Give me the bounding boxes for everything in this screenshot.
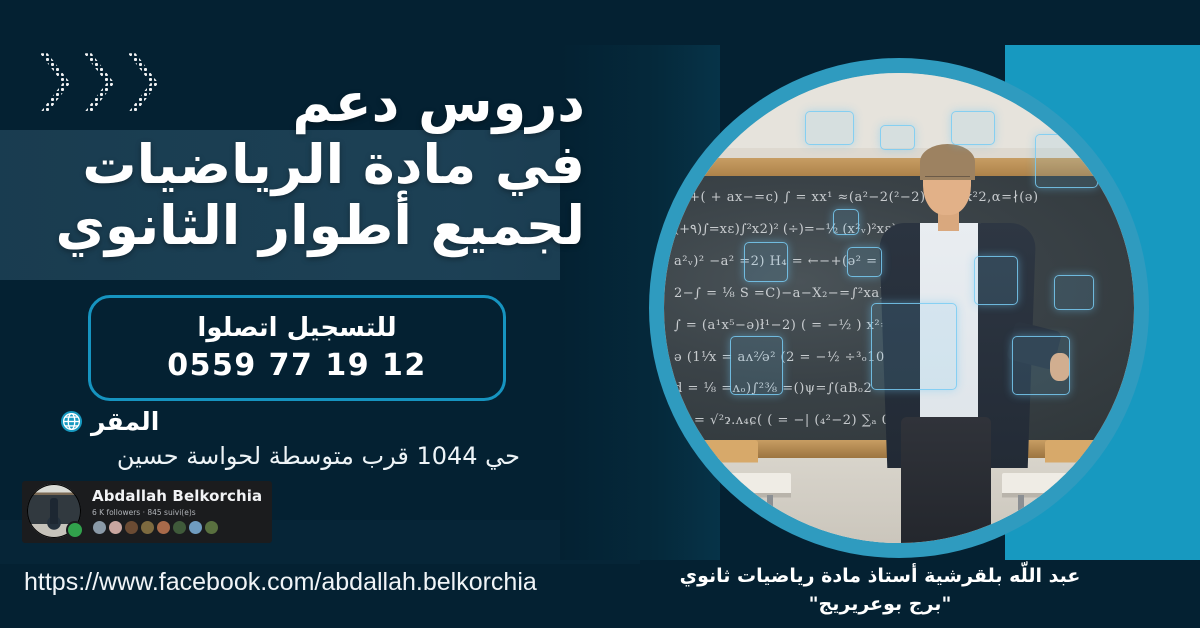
- friend-avatar-row: [92, 520, 272, 535]
- friend-avatar: [188, 520, 203, 535]
- hud-panel: [805, 111, 854, 146]
- facebook-page-card[interactable]: Abdallah Belkorchia 6 K followers · 845 …: [22, 481, 272, 543]
- hud-panel: [744, 242, 788, 282]
- avatar-wrapper: [27, 484, 83, 540]
- hud-panel: [1035, 134, 1098, 188]
- facebook-card-meta: Abdallah Belkorchia 6 K followers · 845 …: [92, 489, 272, 535]
- cta-label: للتسجيل اتصلوا: [197, 313, 396, 344]
- hair: [920, 144, 974, 180]
- photo-ring: C +( + ax−=c) ∫ = xx¹ ≈(a²−2(²−2) a² = x…: [649, 58, 1149, 558]
- poster-root: دروس دعم في مادة الرياضيات لجميع أطوار ا…: [0, 0, 1200, 628]
- trousers: [901, 417, 990, 543]
- friend-avatar: [140, 520, 155, 535]
- friend-avatar: [92, 520, 107, 535]
- address-line: حي 1044 قرب متوسطة لحواسة حسين: [60, 442, 520, 471]
- online-status-dot: [66, 521, 84, 539]
- facebook-page-name: Abdallah Belkorchia: [92, 489, 272, 505]
- caption-line-1: عبد اللّه بلقرشية أستاذ مادة رياضيات ثان…: [560, 563, 1200, 591]
- hud-panel: [833, 209, 859, 235]
- hud-panel: [730, 336, 784, 394]
- facebook-url[interactable]: https://www.facebook.com/abdallah.belkor…: [24, 568, 537, 597]
- friend-avatar: [156, 520, 171, 535]
- hud-panel: [871, 303, 958, 390]
- teacher-photo: C +( + ax−=c) ∫ = xx¹ ≈(a²−2(²−2) a² = x…: [664, 73, 1134, 543]
- globe-icon: [60, 410, 83, 433]
- hud-panel: [880, 125, 915, 151]
- hud-panel: [951, 111, 995, 146]
- friend-avatar: [124, 520, 139, 535]
- address-title: المقر: [91, 408, 159, 436]
- friend-avatar: [108, 520, 123, 535]
- photo-caption: عبد اللّه بلقرشية أستاذ مادة رياضيات ثان…: [560, 563, 1200, 618]
- friend-avatar: [204, 520, 219, 535]
- call-to-action-button[interactable]: للتسجيل اتصلوا 0559 77 19 12: [88, 295, 506, 401]
- hud-panel: [847, 247, 882, 277]
- headline-line-1: دروس دعم: [0, 72, 585, 134]
- hud-panel: [1054, 275, 1094, 310]
- address-heading: المقر: [60, 408, 520, 436]
- cta-phone-number[interactable]: 0559 77 19 12: [167, 348, 427, 383]
- eyeglasses: [925, 176, 970, 189]
- headline-line-2: في مادة الرياضيات: [0, 134, 585, 196]
- friend-avatar: [172, 520, 187, 535]
- caption-line-2: "برج بوعريريج": [560, 591, 1200, 619]
- desk-left: [678, 473, 791, 529]
- facebook-page-stats: 6 K followers · 845 suivi(e)s: [92, 508, 272, 517]
- address-block: المقر حي 1044 قرب متوسطة لحواسة حسين: [60, 408, 520, 470]
- hud-panel: [1012, 336, 1070, 394]
- hud-panel: [974, 256, 1018, 305]
- headline-line-3: لجميع أطوار الثانوي: [0, 195, 585, 257]
- headline: دروس دعم في مادة الرياضيات لجميع أطوار ا…: [0, 72, 585, 257]
